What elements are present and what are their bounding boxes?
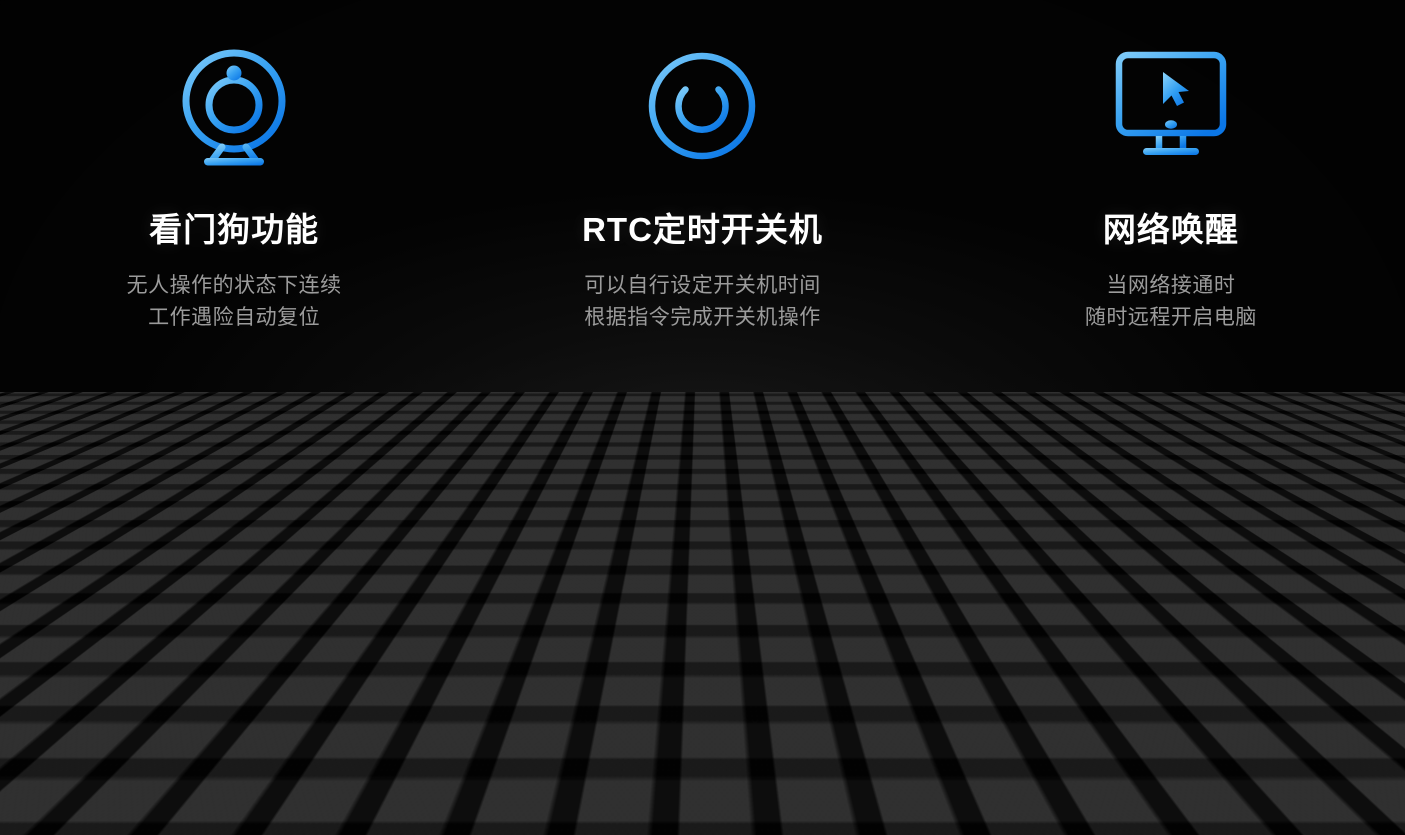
feature-card-wake-on-lan[interactable]: 网络唤醒 当网络接通时 随时远程开启电脑 (937, 0, 1405, 418)
sdk-windows-icon: SDK. (1115, 466, 1227, 586)
feature-description-line: 可提供专业SDK包 (1074, 692, 1268, 724)
feature-description-line: 根据指令完成开关机操作 (584, 302, 821, 334)
sdk-icon-label: SDK. (1123, 510, 1199, 543)
feature-description: 来电自动开机，无需繁杂操作 (563, 692, 843, 724)
feature-description: 可以自行设定开关机时间 根据指令完成开关机操作 (584, 270, 821, 334)
feature-description-line: 可以自行设定开关机时间 (584, 270, 821, 302)
feature-description-line: 控进行控制 (105, 724, 363, 756)
feature-description-line: 当网络接通时 (1085, 270, 1257, 302)
feature-grid-page: 看门狗功能 无人操作的状态下连续 工作遇险自动复位 RTC定时开关机 可以自行设… (0, 0, 1405, 835)
feature-description-line: 无人操作的状态下连续 (127, 270, 342, 302)
feature-card-watchdog[interactable]: 看门狗功能 无人操作的状态下连续 工作遇险自动复位 (0, 0, 468, 418)
feature-title: 网络唤醒 (1103, 212, 1239, 248)
feature-title: 开放SDK (1100, 634, 1241, 670)
remote-control-signal-icon (180, 466, 288, 586)
feature-title: RTC定时开关机 (582, 212, 823, 248)
feature-description-line: 工作遇险自动复位 (127, 302, 342, 334)
feature-description: 当网络接通时 随时远程开启电脑 (1085, 270, 1257, 334)
feature-description: 可提供专业SDK包 支持第三方系统对接 (1074, 692, 1268, 756)
feature-card-rtc-timer[interactable]: RTC定时开关机 可以自行设定开关机时间 根据指令完成开关机操作 (468, 0, 936, 418)
feature-title: 红外遥控 (166, 634, 302, 670)
feature-card-open-sdk[interactable]: SDK. 开放SDK 可提供专业SDK包 支持第三方系统对接 (937, 418, 1405, 835)
feature-description: 无人操作的状态下连续 工作遇险自动复位 (127, 270, 342, 334)
feature-title: 看门狗功能 (149, 212, 319, 248)
monitor-rocket-icon (643, 466, 761, 586)
feature-card-ir-remote[interactable]: 红外遥控 在一定范围内，可用红外遥 控进行控制 (0, 418, 468, 835)
feature-title: 通电自启 (634, 634, 770, 670)
feature-description: 在一定范围内，可用红外遥 控进行控制 (105, 692, 363, 756)
monitor-cursor-icon (1115, 46, 1227, 166)
feature-card-auto-power-on[interactable]: 通电自启 来电自动开机，无需繁杂操作 (468, 418, 936, 835)
webcam-icon (178, 46, 290, 166)
feature-description-line: 来电自动开机，无需繁杂操作 (563, 692, 843, 724)
power-button-icon (647, 46, 757, 166)
feature-description-line: 随时远程开启电脑 (1085, 302, 1257, 334)
features-grid: 看门狗功能 无人操作的状态下连续 工作遇险自动复位 RTC定时开关机 可以自行设… (0, 0, 1405, 835)
feature-description-line: 支持第三方系统对接 (1074, 724, 1268, 756)
feature-description-line: 在一定范围内，可用红外遥 (105, 692, 363, 724)
